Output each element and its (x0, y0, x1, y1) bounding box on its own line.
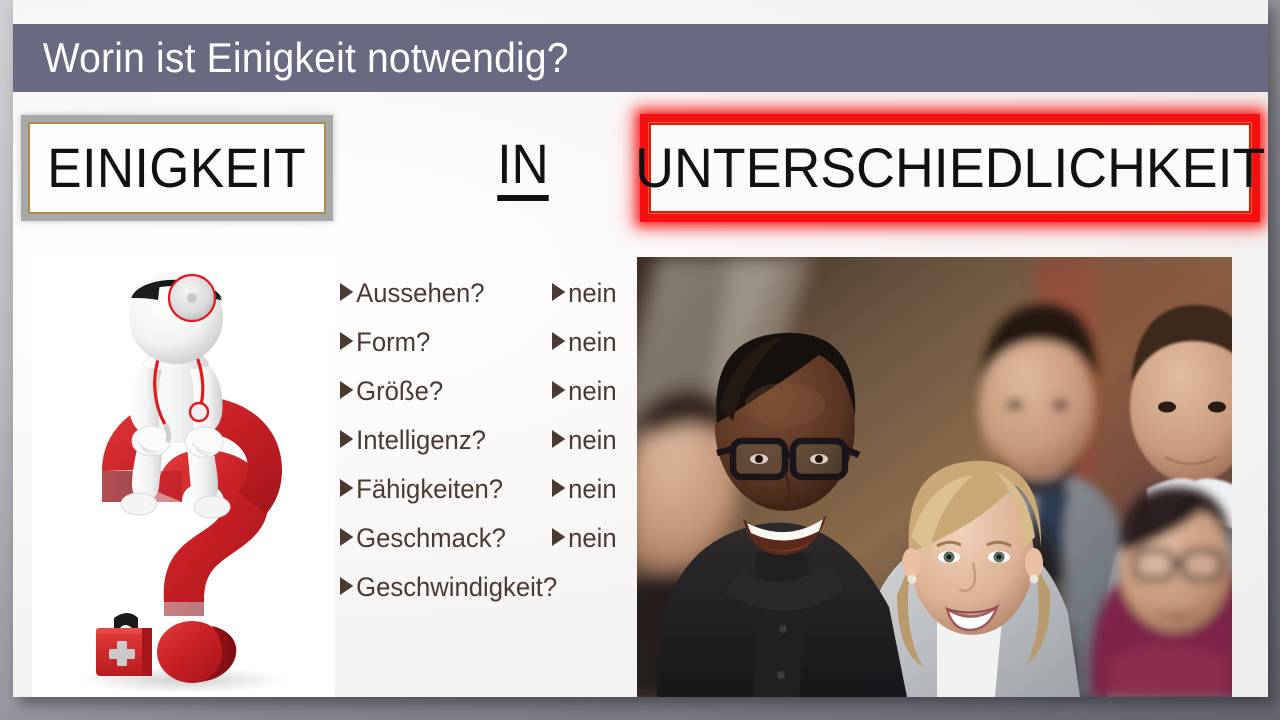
answer-label: nein (568, 327, 616, 358)
triangle-right-bullet-icon (552, 430, 565, 448)
triangle-right-bullet-icon (552, 332, 565, 350)
answer-label: nein (568, 425, 616, 456)
answer-item: nein (552, 474, 617, 505)
list-item-label: Intelligenz? (356, 425, 486, 456)
slide-surface: Worin ist Einigkeit notwendig? EINIGKEIT… (13, 0, 1268, 697)
content-row: Aussehen? Form? Größe? Intelligenz? Fähi… (13, 244, 1268, 697)
answer-label: nein (568, 376, 616, 407)
triangle-right-bullet-icon (552, 381, 565, 399)
einigkeit-label: EINIGKEIT (48, 140, 307, 196)
triangle-right-bullet-icon (552, 528, 565, 546)
list-item: Form? (340, 327, 430, 358)
title-banner: Worin ist Einigkeit notwendig? (13, 24, 1268, 92)
answer-item: nein (552, 327, 617, 358)
answer-label: nein (568, 523, 616, 554)
diverse-business-people-photo (637, 257, 1232, 697)
list-item-label: Geschwindigkeit? (356, 572, 557, 603)
einigkeit-framed-box: EINIGKEIT (21, 115, 333, 221)
headline-row: EINIGKEIT IN UNTERSCHIEDLICHKEIT (13, 104, 1268, 232)
list-item: Intelligenz? (340, 425, 486, 456)
list-item-label: Aussehen? (356, 278, 484, 309)
page-title: Worin ist Einigkeit notwendig? (13, 37, 569, 79)
list-item: Fähigkeiten? (340, 474, 503, 505)
list-item: Aussehen? (340, 278, 485, 309)
triangle-right-bullet-icon (340, 479, 353, 497)
connector-in-wrap: IN (433, 115, 613, 221)
unterschiedlichkeit-label: UNTERSCHIEDLICHKEIT (635, 140, 1265, 196)
list-item-label: Größe? (356, 376, 443, 407)
triangle-right-bullet-icon (340, 332, 353, 350)
list-item-label: Fähigkeiten? (356, 474, 503, 505)
answer-item: nein (552, 425, 617, 456)
list-item: Größe? (340, 376, 443, 407)
triangle-right-bullet-icon (552, 283, 565, 301)
answer-item: nein (552, 278, 617, 309)
answer-item: nein (552, 523, 617, 554)
triangle-right-bullet-icon (340, 577, 353, 595)
triangle-right-bullet-icon (340, 381, 353, 399)
answer-item: nein (552, 376, 617, 407)
doctor-on-question-mark-illustration (32, 256, 335, 697)
answer-label: nein (568, 278, 616, 309)
business-people-photo-svg (637, 257, 1232, 697)
answer-label: nein (568, 474, 616, 505)
triangle-right-bullet-icon (552, 479, 565, 497)
triangle-right-bullet-icon (340, 528, 353, 546)
doctor-illustration-svg (32, 256, 335, 697)
connector-in-label: IN (497, 135, 549, 202)
triangle-right-bullet-icon (340, 283, 353, 301)
unterschiedlichkeit-framed-box: UNTERSCHIEDLICHKEIT (640, 114, 1260, 222)
list-item-label: Geschmack? (356, 523, 506, 554)
list-item: Geschwindigkeit? (340, 572, 557, 603)
attribute-list-panel: Aussehen? Form? Größe? Intelligenz? Fähi… (337, 256, 647, 697)
triangle-right-bullet-icon (340, 430, 353, 448)
list-item-label: Form? (356, 327, 430, 358)
list-item: Geschmack? (340, 523, 506, 554)
